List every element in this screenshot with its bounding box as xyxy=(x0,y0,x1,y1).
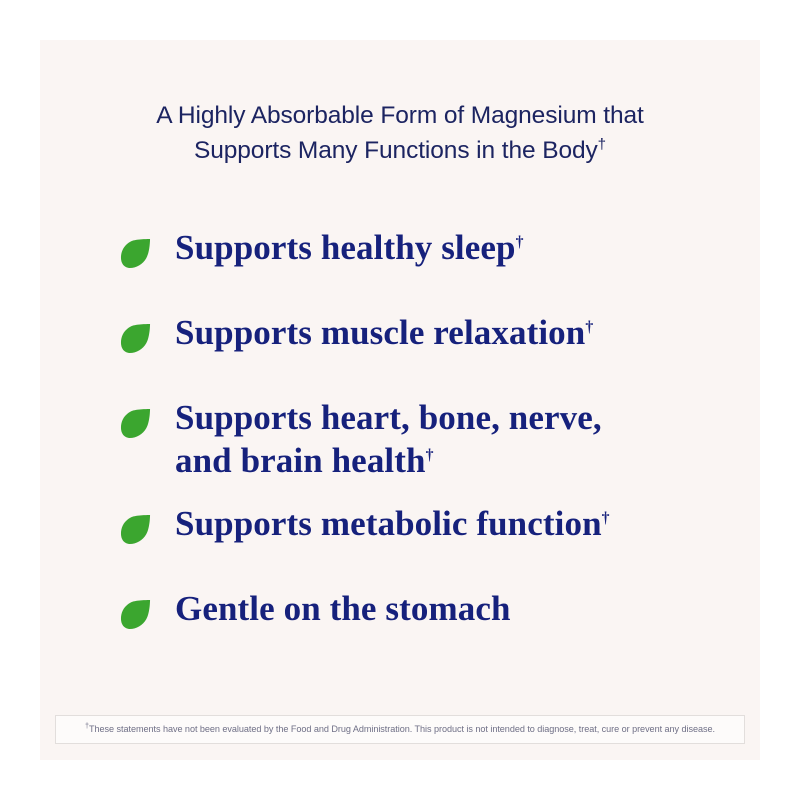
benefit-label: Supports metabolic function† xyxy=(175,502,748,545)
headline-dagger: † xyxy=(598,136,606,153)
product-benefits-card: A Highly Absorbable Form of Magnesium th… xyxy=(40,40,760,760)
benefit-line-1: Supports healthy sleep xyxy=(175,228,516,267)
benefit-line-1: Supports muscle relaxation xyxy=(175,313,585,352)
disclaimer-body: These statements have not been evaluated… xyxy=(89,724,715,734)
leaf-icon xyxy=(120,514,151,545)
benefit-label: Gentle on the stomach xyxy=(175,587,748,630)
headline-line-1: A Highly Absorbable Form of Magnesium th… xyxy=(40,98,760,133)
leaf-icon xyxy=(120,323,151,354)
list-item: Supports healthy sleep† xyxy=(118,226,748,284)
leaf-icon xyxy=(120,238,151,269)
list-item: Gentle on the stomach xyxy=(118,587,748,645)
list-item: Supports heart, bone, nerve,and brain he… xyxy=(118,396,748,482)
list-item: Supports muscle relaxation† xyxy=(118,311,748,369)
benefit-dagger: † xyxy=(516,233,524,250)
benefit-dagger: † xyxy=(602,509,610,526)
disclaimer-box: †These statements have not been evaluate… xyxy=(55,715,745,744)
benefit-line-2: and brain health xyxy=(175,441,426,480)
headline-line-2: Supports Many Functions in the Body xyxy=(194,137,598,164)
benefit-line-1: Gentle on the stomach xyxy=(175,589,511,628)
benefit-label: Supports healthy sleep† xyxy=(175,226,748,269)
benefit-line-1: Supports metabolic function xyxy=(175,504,602,543)
page-title: A Highly Absorbable Form of Magnesium th… xyxy=(40,98,760,168)
benefit-dagger: † xyxy=(426,446,434,463)
disclaimer-text: †These statements have not been evaluate… xyxy=(66,723,734,735)
benefit-label: Supports muscle relaxation† xyxy=(175,311,748,354)
list-item: Supports metabolic function† xyxy=(118,502,748,560)
benefit-dagger: † xyxy=(585,318,593,335)
benefit-label: Supports heart, bone, nerve,and brain he… xyxy=(175,396,748,482)
benefit-line-1: Supports heart, bone, nerve, xyxy=(175,398,602,437)
leaf-icon xyxy=(120,599,151,630)
headline-line-2-wrap: Supports Many Functions in the Body† xyxy=(40,133,760,168)
leaf-icon xyxy=(120,408,151,439)
benefits-list: Supports healthy sleep† Supports muscle … xyxy=(118,226,748,672)
